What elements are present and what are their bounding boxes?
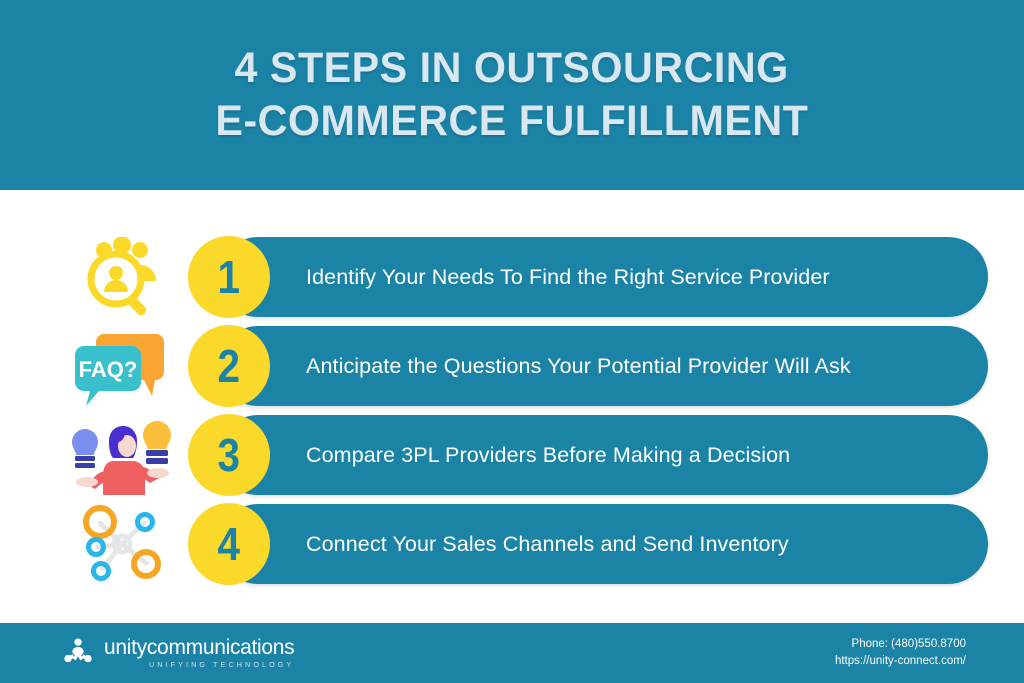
step-number-badge: 4 — [188, 503, 270, 585]
brand-name: unitycommunications — [104, 637, 294, 658]
step-label: Anticipate the Questions Your Potential … — [306, 354, 851, 379]
step-bar-wrap: Identify Your Needs To Find the Right Se… — [188, 237, 968, 317]
step-number-badge: 1 — [188, 236, 270, 318]
step-number: 4 — [218, 521, 241, 567]
phone-number: Phone: (480)550.8700 — [835, 636, 966, 653]
step-bar-wrap: Anticipate the Questions Your Potential … — [188, 326, 968, 406]
people-magnifier-icon — [56, 236, 188, 318]
step-number: 2 — [218, 343, 241, 389]
step-label: Connect Your Sales Channels and Send Inv… — [306, 532, 789, 557]
website-url[interactable]: https://unity-connect.com/ — [835, 653, 966, 670]
step-row[interactable]: Compare 3PL Providers Before Making a De… — [56, 414, 968, 496]
step-bar-wrap: Compare 3PL Providers Before Making a De… — [188, 415, 968, 495]
step-bar[interactable]: Identify Your Needs To Find the Right Se… — [218, 237, 988, 317]
step-row[interactable]: FAQ? Anticipate the Questions Your Poten… — [56, 325, 968, 407]
step-bar[interactable]: Connect Your Sales Channels and Send Inv… — [218, 504, 988, 584]
faq-speech-bubbles-icon: FAQ? — [56, 325, 188, 407]
step-bar[interactable]: Compare 3PL Providers Before Making a De… — [218, 415, 988, 495]
person-comparing-lightbulbs-icon — [56, 414, 188, 496]
step-number: 3 — [218, 432, 241, 478]
step-label: Identify Your Needs To Find the Right Se… — [306, 265, 830, 290]
step-row[interactable]: Identify Your Needs To Find the Right Se… — [56, 236, 968, 318]
step-number: 1 — [218, 254, 241, 300]
step-number-badge: 3 — [188, 414, 270, 496]
faq-bubble-text: FAQ? — [79, 357, 138, 382]
brand-tagline: UNIFYING TECHNOLOGY — [104, 660, 294, 669]
page-title-line-2: E-COMMERCE FULFILLMENT — [215, 96, 808, 147]
brand-logo[interactable]: unitycommunications UNIFYING TECHNOLOGY — [62, 637, 294, 669]
brand-wordmark: unitycommunications UNIFYING TECHNOLOGY — [104, 637, 294, 668]
steps-section: Identify Your Needs To Find the Right Se… — [0, 190, 1024, 623]
header-banner: 4 STEPS IN OUTSOURCING E-COMMERCE FULFIL… — [0, 0, 1024, 190]
network-nodes-icon — [56, 503, 188, 585]
step-bar[interactable]: Anticipate the Questions Your Potential … — [218, 326, 988, 406]
unity-people-logo-icon — [62, 637, 94, 669]
contact-info: Phone: (480)550.8700 https://unity-conne… — [835, 636, 966, 671]
page-title-line-1: 4 STEPS IN OUTSOURCING — [235, 43, 789, 94]
step-number-badge: 2 — [188, 325, 270, 407]
step-label: Compare 3PL Providers Before Making a De… — [306, 443, 790, 468]
footer-bar: unitycommunications UNIFYING TECHNOLOGY … — [0, 623, 1024, 683]
step-bar-wrap: Connect Your Sales Channels and Send Inv… — [188, 504, 968, 584]
step-row[interactable]: Connect Your Sales Channels and Send Inv… — [56, 503, 968, 585]
